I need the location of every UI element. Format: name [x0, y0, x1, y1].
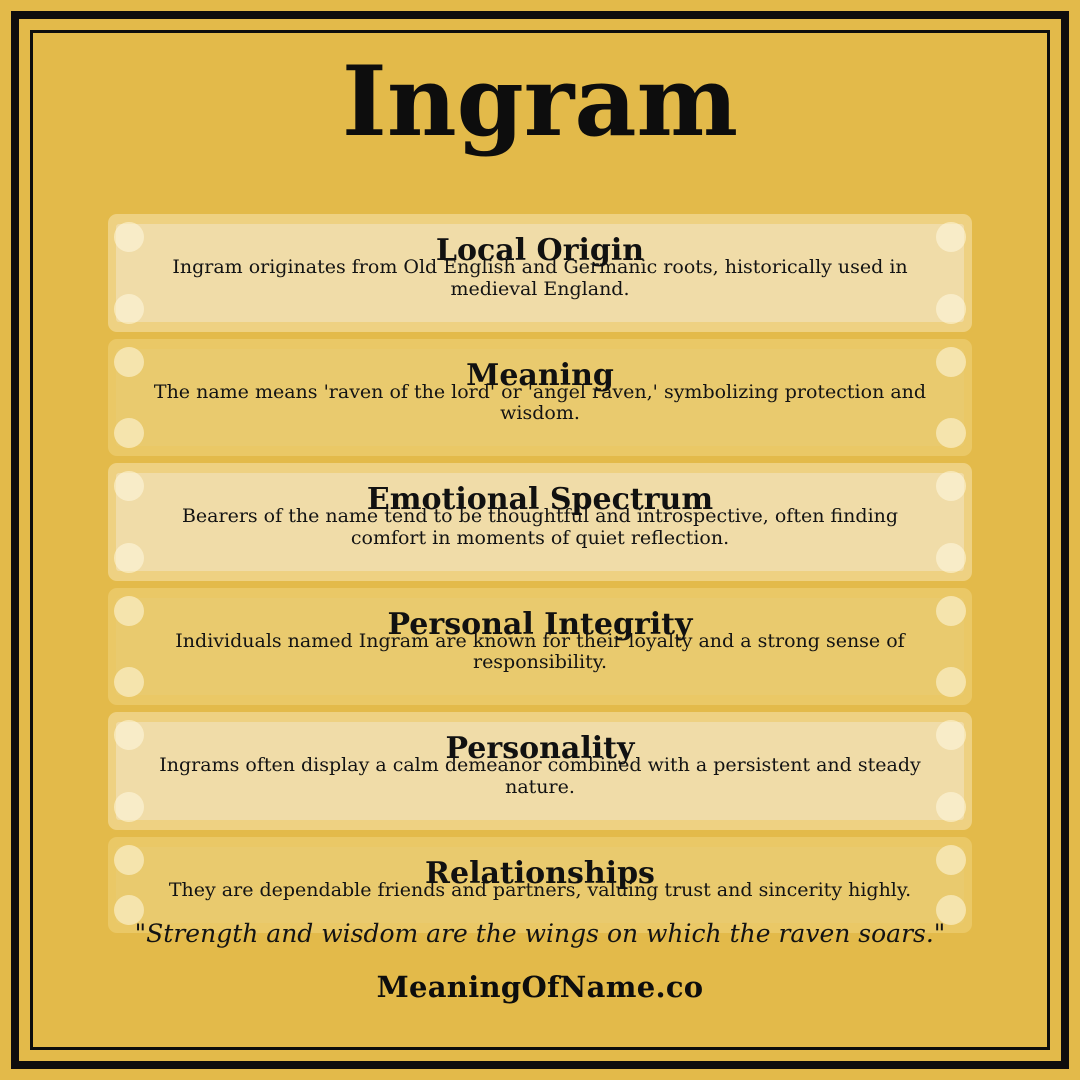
- section-card[interactable]: Personal IntegrityIndividuals named Ingr…: [108, 588, 972, 706]
- section-card[interactable]: PersonalityIngrams often display a calm …: [108, 712, 972, 830]
- corner-rivet-icon: [936, 418, 966, 448]
- section-panel: PersonalityIngrams often display a calm …: [116, 722, 964, 820]
- section-panel: Local OriginIngram originates from Old E…: [116, 224, 964, 322]
- section-card[interactable]: Local OriginIngram originates from Old E…: [108, 214, 972, 332]
- section-card[interactable]: MeaningThe name means 'raven of the lord…: [108, 339, 972, 457]
- poster-footer: "Strength and wisdom are the wings on wh…: [40, 919, 1040, 1004]
- corner-rivet-icon: [114, 845, 144, 875]
- section-heading: Meaning: [146, 361, 934, 391]
- corner-rivet-icon: [936, 543, 966, 573]
- section-heading: Local Origin: [146, 236, 934, 266]
- footer-quote: "Strength and wisdom are the wings on wh…: [40, 919, 1040, 948]
- name-meaning-poster: Ingram Local OriginIngram originates fro…: [0, 0, 1080, 1080]
- corner-rivet-icon: [114, 792, 144, 822]
- section-heading: Relationships: [146, 859, 934, 889]
- corner-rivet-icon: [936, 222, 966, 252]
- poster-content: Ingram Local OriginIngram originates fro…: [40, 40, 1040, 1040]
- corner-rivet-icon: [936, 596, 966, 626]
- corner-rivet-icon: [936, 471, 966, 501]
- section-heading: Personality: [146, 734, 934, 764]
- corner-rivet-icon: [114, 543, 144, 573]
- sections-list: Local OriginIngram originates from Old E…: [40, 214, 1040, 933]
- section-heading: Emotional Spectrum: [146, 485, 934, 515]
- section-card[interactable]: Emotional SpectrumBearers of the name te…: [108, 463, 972, 581]
- corner-rivet-icon: [114, 294, 144, 324]
- section-panel: Personal IntegrityIndividuals named Ingr…: [116, 598, 964, 696]
- corner-rivet-icon: [936, 792, 966, 822]
- section-panel: Emotional SpectrumBearers of the name te…: [116, 473, 964, 571]
- corner-rivet-icon: [936, 667, 966, 697]
- page-title: Ingram: [40, 54, 1040, 150]
- corner-rivet-icon: [114, 596, 144, 626]
- corner-rivet-icon: [114, 667, 144, 697]
- section-panel: MeaningThe name means 'raven of the lord…: [116, 349, 964, 447]
- corner-rivet-icon: [114, 720, 144, 750]
- corner-rivet-icon: [936, 845, 966, 875]
- brand-name: MeaningOfName.co: [40, 970, 1040, 1004]
- section-heading: Personal Integrity: [146, 610, 934, 640]
- corner-rivet-icon: [114, 347, 144, 377]
- corner-rivet-icon: [936, 294, 966, 324]
- section-panel: RelationshipsThey are dependable friends…: [116, 847, 964, 923]
- corner-rivet-icon: [114, 471, 144, 501]
- corner-rivet-icon: [936, 720, 966, 750]
- corner-rivet-icon: [114, 418, 144, 448]
- corner-rivet-icon: [936, 347, 966, 377]
- corner-rivet-icon: [114, 222, 144, 252]
